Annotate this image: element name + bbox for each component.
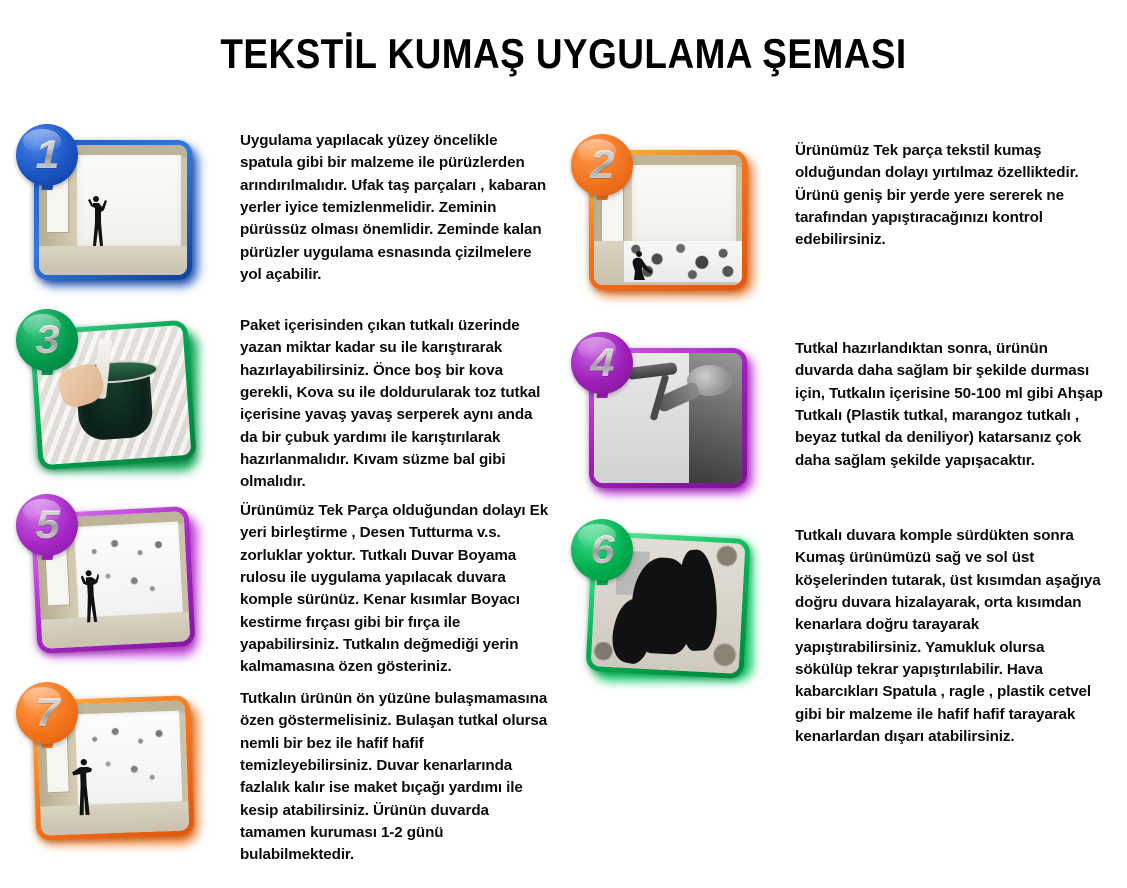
step-image-card-4[interactable]: 4: [575, 338, 765, 513]
step-description-2: Ürünümüz Tek parça tekstil kumaş olduğun…: [795, 140, 1105, 252]
person-silhouette-icon-5: [78, 567, 101, 626]
step-number-badge-2: 2: [571, 134, 633, 196]
step-number-badge-4: 4: [571, 332, 633, 394]
page-title: TEKSTİL KUMAŞ UYGULAMA ŞEMASI: [68, 30, 1060, 78]
person-crouching-icon-2: [630, 248, 656, 280]
steps-container: 1 Uygulama yapılacak yüzey öncelikle spa…: [0, 110, 1127, 888]
step-description-3: Paket içerisinden çıkan tutkalı üzerinde…: [240, 315, 550, 494]
step-image-card-7[interactable]: 7: [20, 688, 210, 863]
step-image-card-5[interactable]: 5: [20, 500, 210, 675]
step-description-1: Uygulama yapılacak yüzey öncelikle spatu…: [240, 130, 550, 286]
step-number-badge-5: 5: [16, 494, 78, 556]
step-image-card-1[interactable]: 1: [20, 130, 210, 305]
badge-number-label-6: 6: [569, 519, 636, 581]
step-number-badge-1: 1: [16, 124, 78, 186]
step-image-card-6[interactable]: 6: [575, 525, 765, 700]
badge-number-label-1: 1: [14, 124, 81, 186]
badge-number-label-2: 2: [569, 134, 636, 196]
step-number-badge-6: 6: [571, 519, 633, 581]
step-number-badge-7: 7: [16, 682, 78, 744]
badge-number-label-7: 7: [14, 682, 81, 744]
badge-number-label-5: 5: [14, 494, 81, 556]
person-silhouette-icon-1: [85, 193, 107, 249]
badge-number-label-3: 3: [14, 309, 81, 371]
step-image-card-3[interactable]: 3: [20, 315, 210, 490]
person-silhouette-icon-7: [71, 756, 97, 819]
step-image-card-2[interactable]: 2: [575, 140, 765, 315]
step-description-4: Tutkal hazırlandıktan sonra, ürünün duva…: [795, 338, 1105, 472]
step-description-5: Ürünümüz Tek Parça olduğundan dolayı Ek …: [240, 500, 550, 679]
badge-number-label-4: 4: [569, 332, 636, 394]
step-number-badge-3: 3: [16, 309, 78, 371]
step-description-7: Tutkalın ürünün ön yüzüne bulaşmamasına …: [240, 688, 550, 867]
step-description-6: Tutkalı duvara komple sürdükten sonra Ku…: [795, 525, 1105, 748]
